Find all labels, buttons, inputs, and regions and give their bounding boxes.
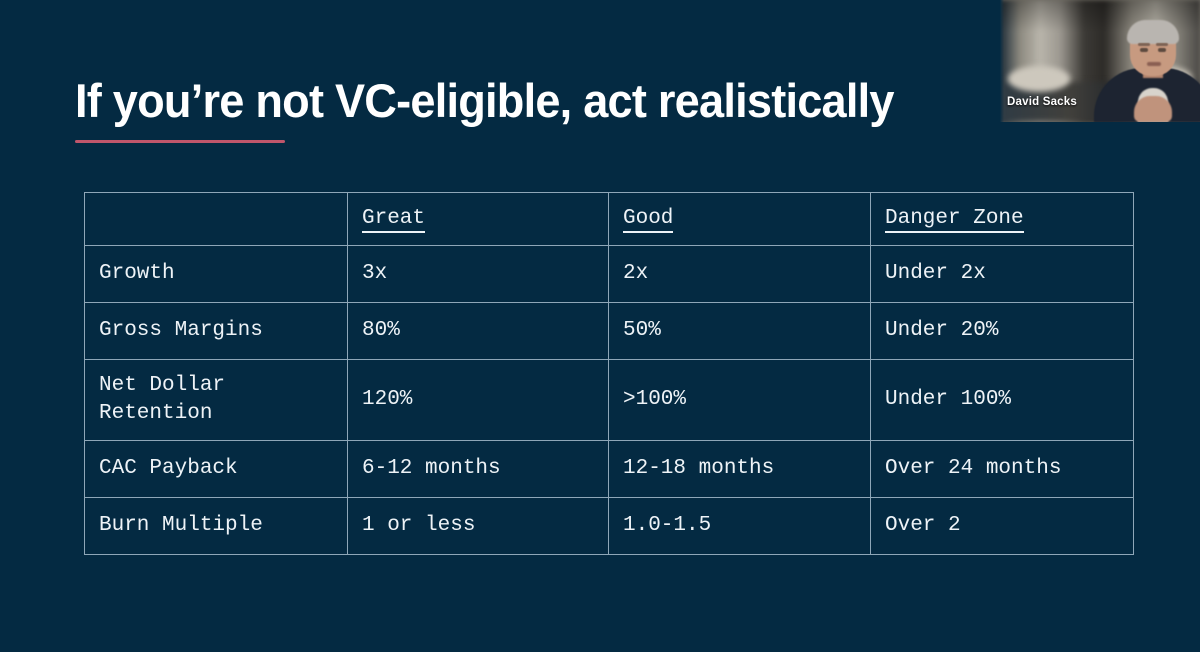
column-header-good: Good	[609, 193, 871, 246]
table-row: CAC Payback 6-12 months 12-18 months Ove…	[85, 441, 1134, 498]
metric-danger-cell: Over 24 months	[871, 441, 1134, 498]
metric-great-cell: 80%	[348, 303, 609, 360]
metric-good-cell: 12-18 months	[609, 441, 871, 498]
table-row: Gross Margins 80% 50% Under 20%	[85, 303, 1134, 360]
speaker-hands	[1134, 96, 1172, 122]
metric-danger-cell: Under 2x	[871, 246, 1134, 303]
table-header: Great Good Danger Zone	[85, 193, 1134, 246]
metric-great-cell: 120%	[348, 360, 609, 441]
metrics-table-container: Great Good Danger Zone Growth 3x 2	[84, 192, 1133, 555]
speaker-figure	[1094, 20, 1200, 122]
speaker-eyebrow-left	[1138, 43, 1150, 46]
metric-name-cell: Burn Multiple	[85, 498, 348, 555]
metric-name-line: Growth	[99, 260, 333, 288]
column-header-great: Great	[348, 193, 609, 246]
metric-name-line: Gross Margins	[99, 317, 333, 345]
metric-name-line: Burn Multiple	[99, 512, 333, 540]
speaker-eye-right	[1158, 48, 1166, 52]
speaker-eyebrow-right	[1156, 43, 1168, 46]
column-header-danger-zone: Danger Zone	[871, 193, 1134, 246]
column-header-good-label: Good	[623, 207, 673, 233]
metric-name-line: CAC Payback	[99, 455, 333, 483]
metric-name-cell: Net Dollar Retention	[85, 360, 348, 441]
presentation-slide: If you’re not VC-eligible, act realistic…	[0, 0, 1200, 652]
title-block: If you’re not VC-eligible, act realistic…	[75, 74, 928, 143]
metric-great-cell: 1 or less	[348, 498, 609, 555]
page-title: If you’re not VC-eligible, act realistic…	[75, 74, 894, 128]
metric-name-cell: CAC Payback	[85, 441, 348, 498]
metric-danger-cell: Over 2	[871, 498, 1134, 555]
table-body: Growth 3x 2x Under 2x Gross Margins 80% …	[85, 246, 1134, 555]
column-header-great-label: Great	[362, 207, 425, 233]
speaker-video-tile[interactable]: David Sacks	[1000, 0, 1200, 122]
title-underline-accent	[75, 140, 285, 143]
table-row: Net Dollar Retention 120% >100% Under 10…	[85, 360, 1134, 441]
metric-good-cell: 50%	[609, 303, 871, 360]
table-header-row: Great Good Danger Zone	[85, 193, 1134, 246]
metric-good-cell: >100%	[609, 360, 871, 441]
speaker-mouth	[1147, 62, 1161, 66]
metric-great-cell: 3x	[348, 246, 609, 303]
speaker-hair	[1127, 20, 1179, 44]
metric-good-cell: 2x	[609, 246, 871, 303]
metric-good-cell: 1.0-1.5	[609, 498, 871, 555]
metric-danger-cell: Under 100%	[871, 360, 1134, 441]
metric-danger-cell: Under 20%	[871, 303, 1134, 360]
column-header-metric	[85, 193, 348, 246]
metric-name-cell: Growth	[85, 246, 348, 303]
metric-name-line: Retention	[99, 400, 333, 428]
saas-metrics-table: Great Good Danger Zone Growth 3x 2	[84, 192, 1134, 555]
column-header-danger-zone-label: Danger Zone	[885, 207, 1024, 233]
video-edge-shade	[1000, 0, 1004, 122]
speaker-eye-left	[1140, 48, 1148, 52]
table-row: Burn Multiple 1 or less 1.0-1.5 Over 2	[85, 498, 1134, 555]
metric-name-line: Net Dollar	[99, 372, 333, 400]
metric-name-cell: Gross Margins	[85, 303, 348, 360]
speaker-name-label: David Sacks	[1007, 96, 1077, 108]
metric-great-cell: 6-12 months	[348, 441, 609, 498]
table-row: Growth 3x 2x Under 2x	[85, 246, 1134, 303]
video-cushion-left	[1008, 66, 1070, 92]
